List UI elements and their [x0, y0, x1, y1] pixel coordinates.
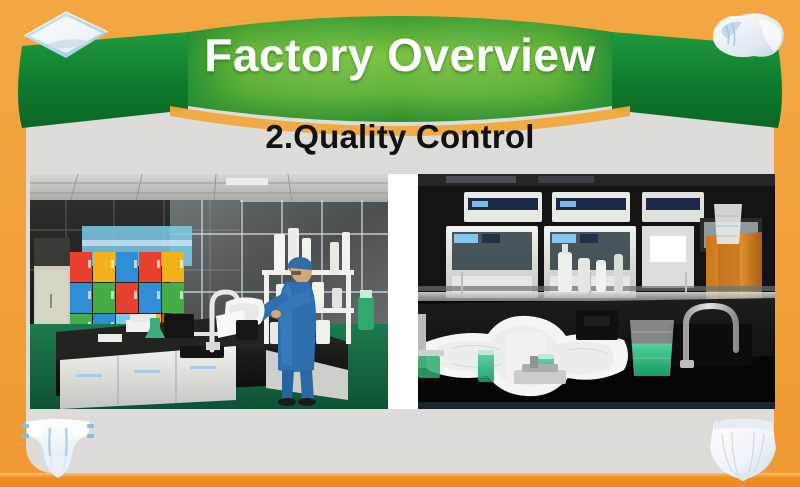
adult-pull-up-illustration — [698, 414, 788, 484]
section-subtitle: 2.Quality Control — [0, 118, 800, 156]
orange-frame-bottom-bar — [0, 473, 800, 487]
photo-strip — [30, 174, 775, 409]
baby-diaper-illustration — [16, 414, 100, 482]
photo-left-quality-control-laboratory — [30, 174, 388, 409]
photo-divider — [388, 174, 418, 409]
sanitary-napkin-illustration — [706, 4, 792, 66]
underpad-illustration — [18, 6, 112, 66]
slide-root: Factory Overview 2.Quality Control — [0, 0, 800, 487]
page-title: Factory Overview — [0, 28, 800, 82]
photo-right-absorbency-testing-bench — [418, 174, 775, 409]
